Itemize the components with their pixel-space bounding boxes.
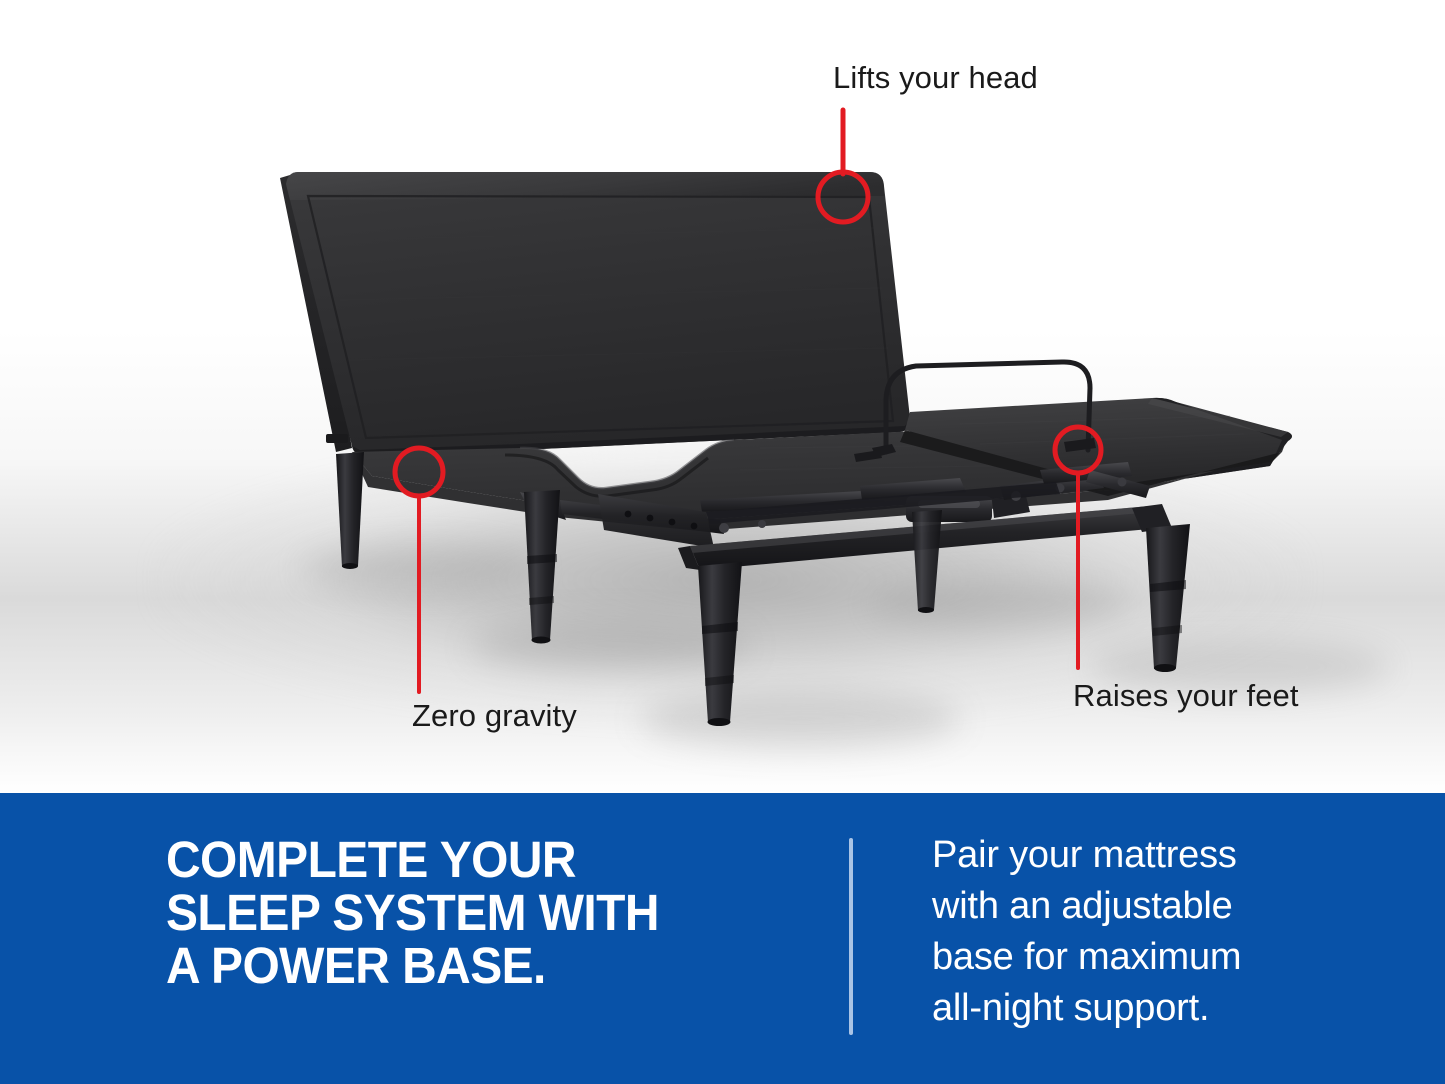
leg <box>336 452 364 567</box>
product-photo: Lifts your head Zero gravity Raises your… <box>0 0 1445 793</box>
leg <box>1146 524 1190 669</box>
subcopy-line-4: all-night support. <box>932 983 1332 1034</box>
callout-label-zero-gravity: Zero gravity <box>412 698 577 734</box>
adjustable-bed-illustration <box>0 0 1445 793</box>
banner-headline: COMPLETE YOUR SLEEP SYSTEM WITH A POWER … <box>166 833 768 992</box>
headline-line-1: COMPLETE YOUR <box>166 833 768 886</box>
leg <box>912 510 942 611</box>
banner-subcopy: Pair your mattress with an adjustable ba… <box>932 830 1332 1034</box>
banner-divider <box>849 838 853 1035</box>
promo-page: Lifts your head Zero gravity Raises your… <box>0 0 1445 1084</box>
promo-banner: COMPLETE YOUR SLEEP SYSTEM WITH A POWER … <box>0 793 1445 1084</box>
headline-line-3: A POWER BASE. <box>166 939 768 992</box>
subcopy-line-1: Pair your mattress <box>932 830 1332 881</box>
leg <box>698 562 742 723</box>
subcopy-line-2: with an adjustable <box>932 881 1332 932</box>
callout-label-lifts-head: Lifts your head <box>833 60 1038 96</box>
leg <box>524 490 560 641</box>
callout-label-raises-feet: Raises your feet <box>1073 678 1299 714</box>
banner-content: COMPLETE YOUR SLEEP SYSTEM WITH A POWER … <box>0 793 1445 1084</box>
headline-line-2: SLEEP SYSTEM WITH <box>166 886 768 939</box>
subcopy-line-3: base for maximum <box>932 932 1332 983</box>
head-section <box>280 172 910 456</box>
